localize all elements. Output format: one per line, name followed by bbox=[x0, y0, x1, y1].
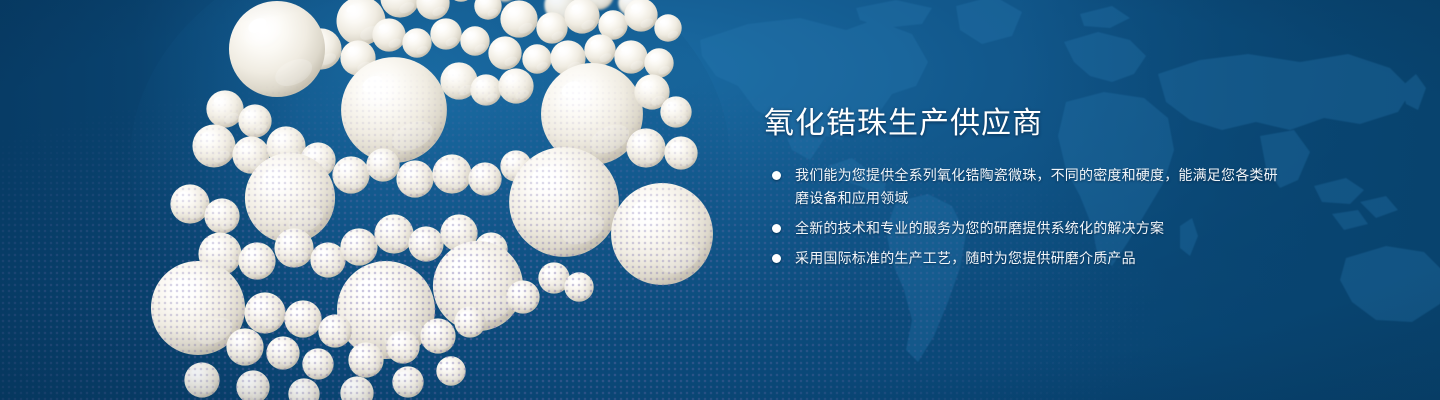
banner-copy: 氧化锆珠生产供应商 我们能为您提供全系列氧化锆陶瓷微珠，不同的密度和硬度，能满足… bbox=[764, 104, 1284, 270]
banner-bullet-item: 采用国际标准的生产工艺，随时为您提供研磨介质产品 bbox=[764, 247, 1284, 270]
bullet-dot-icon bbox=[772, 254, 781, 263]
hero-banner: 氧化锆珠生产供应商 我们能为您提供全系列氧化锆陶瓷微珠，不同的密度和硬度，能满足… bbox=[0, 0, 1440, 400]
bullet-dot-icon bbox=[772, 171, 781, 180]
banner-bullet-text: 我们能为您提供全系列氧化锆陶瓷微珠，不同的密度和硬度，能满足您各类研磨设备和应用… bbox=[795, 164, 1284, 210]
banner-bullet-list: 我们能为您提供全系列氧化锆陶瓷微珠，不同的密度和硬度，能满足您各类研磨设备和应用… bbox=[764, 164, 1284, 270]
banner-bullet-item: 全新的技术和专业的服务为您的研磨提供系统化的解决方案 bbox=[764, 217, 1284, 240]
banner-bullet-item: 我们能为您提供全系列氧化锆陶瓷微珠，不同的密度和硬度，能满足您各类研磨设备和应用… bbox=[764, 164, 1284, 210]
banner-bullet-text: 全新的技术和专业的服务为您的研磨提供系统化的解决方案 bbox=[795, 217, 1284, 240]
bullet-dot-icon bbox=[772, 224, 781, 233]
banner-bullet-text: 采用国际标准的生产工艺，随时为您提供研磨介质产品 bbox=[795, 247, 1284, 270]
banner-headline: 氧化锆珠生产供应商 bbox=[764, 104, 1284, 144]
